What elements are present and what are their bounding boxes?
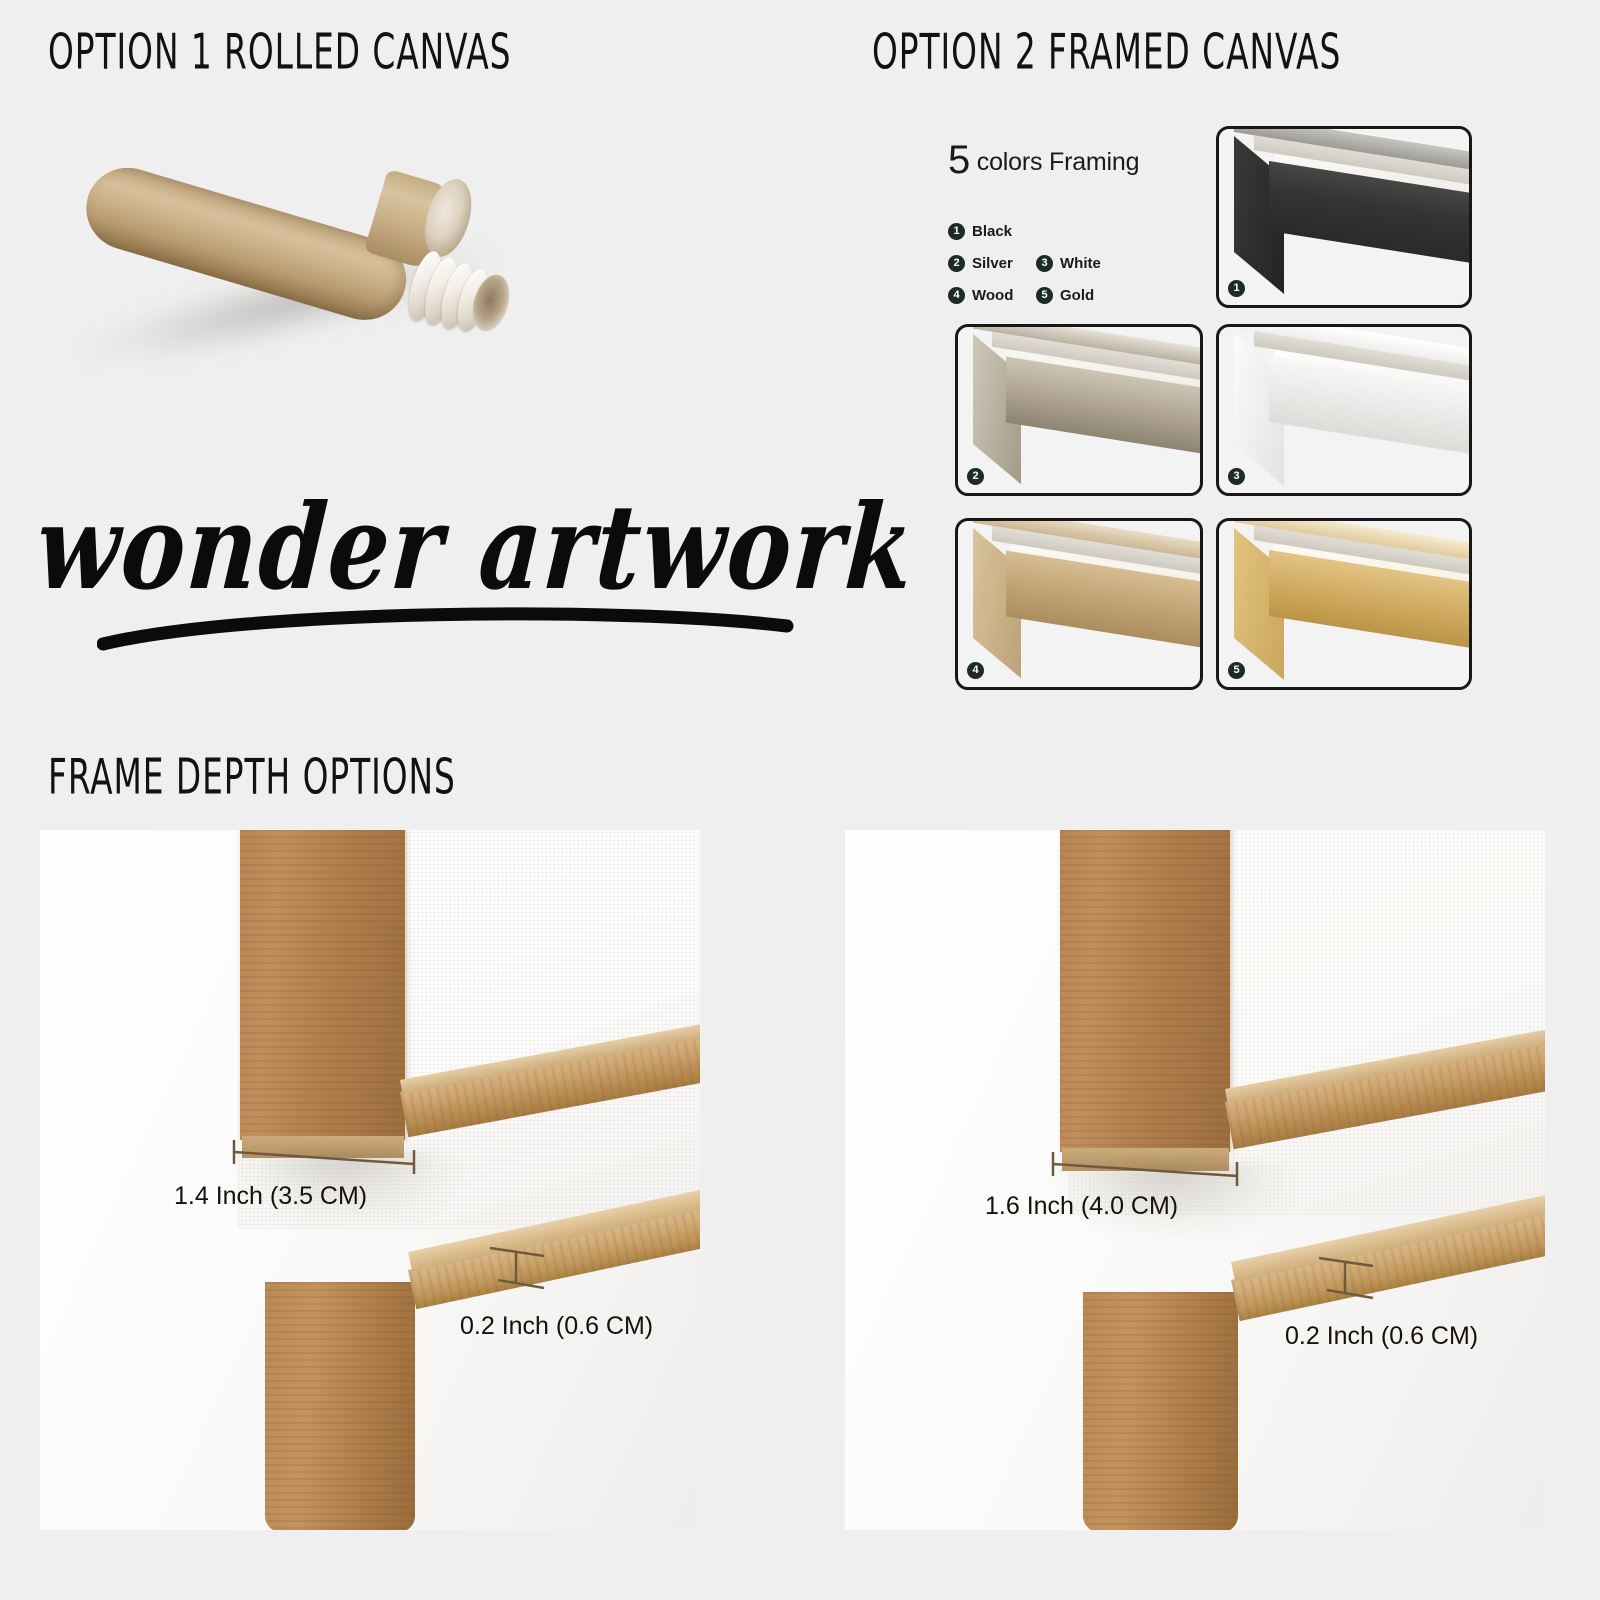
framing-title-text: colors Framing: [977, 148, 1140, 176]
frame-bottom-stile: [265, 1282, 415, 1530]
badge-number-icon: 1: [948, 223, 965, 240]
frame-width-label: 1.4 Inch (3.5 CM): [174, 1182, 367, 1211]
framing-legend-title: 5 colors Framing: [948, 138, 1218, 183]
frame-thickness-label: 0.2 Inch (0.6 CM): [1285, 1322, 1478, 1351]
framing-legend: 5 colors Framing 1 Black 2 Silver 3 Whit…: [948, 138, 1218, 319]
white-frame-sample-card[interactable]: 3: [1216, 324, 1472, 496]
frame-bottom-stile: [1083, 1292, 1238, 1530]
depth-photo-right: 1.6 Inch (4.0 CM) 0.2 Inch (0.6 CM): [845, 830, 1545, 1530]
brand-logo: wonder artwork: [42, 478, 902, 658]
frame-corner-illustration: [1219, 129, 1469, 305]
badge-number-icon: 1: [1228, 280, 1245, 297]
frame-width-dimension-line: [1045, 1142, 1260, 1186]
frame-depth-title: FRAME DEPTH OPTIONS: [48, 749, 456, 805]
frame-thickness-label: 0.2 Inch (0.6 CM): [460, 1312, 653, 1341]
frame-vertical-stile: [1060, 830, 1230, 1152]
frame-thickness-dimension-line: [486, 1238, 556, 1308]
wood-frame-sample-card[interactable]: 4: [955, 518, 1203, 690]
badge-number-icon: 2: [967, 468, 984, 485]
legend-label: Black: [972, 223, 1012, 240]
depth-photo-left: 1.4 Inch (3.5 CM) 0.2 Inch (0.6 CM): [40, 830, 700, 1530]
badge-number-icon: 3: [1036, 255, 1053, 272]
legend-label: Gold: [1060, 287, 1094, 304]
legend-row: 2 Silver 3 White: [948, 255, 1218, 272]
rolled-canvas-tube-figure: [60, 120, 520, 390]
legend-label: White: [1060, 255, 1101, 272]
badge-number-icon: 3: [1228, 468, 1245, 485]
infographic-canvas: OPTION 1 ROLLED CANVAS OPTION 2 FRAMED C…: [0, 0, 1600, 1600]
frame-width-label: 1.6 Inch (4.0 CM): [985, 1192, 1178, 1221]
badge-number-icon: 4: [967, 662, 984, 679]
legend-label: Silver: [972, 255, 1013, 272]
frame-corner-illustration: [958, 327, 1200, 493]
badge-number-icon: 5: [1228, 662, 1245, 679]
legend-row: 4 Wood 5 Gold: [948, 287, 1218, 304]
frame-corner-illustration: [1219, 521, 1469, 687]
brand-name: wonder artwork: [32, 478, 902, 616]
legend-item-black[interactable]: 1 Black: [948, 223, 1036, 240]
option1-title: OPTION 1 ROLLED CANVAS: [48, 24, 511, 80]
frame-corner-illustration: [958, 521, 1200, 687]
frame-vertical-stile: [240, 830, 405, 1140]
badge-number-icon: 5: [1036, 287, 1053, 304]
black-frame-sample-card[interactable]: 1: [1216, 126, 1472, 308]
frame-width-dimension-line: [226, 1130, 436, 1174]
gold-frame-sample-card[interactable]: 5: [1216, 518, 1472, 690]
framing-count: 5: [948, 138, 970, 182]
brand-underline-stroke: [97, 604, 797, 652]
option2-title: OPTION 2 FRAMED CANVAS: [872, 24, 1341, 80]
legend-item-silver[interactable]: 2 Silver: [948, 255, 1036, 272]
silver-frame-sample-card[interactable]: 2: [955, 324, 1203, 496]
frame-corner-illustration: [1219, 327, 1469, 493]
legend-row: 1 Black: [948, 223, 1218, 240]
legend-item-gold[interactable]: 5 Gold: [1036, 287, 1124, 304]
badge-number-icon: 2: [948, 255, 965, 272]
frame-thickness-dimension-line: [1315, 1248, 1385, 1318]
legend-label: Wood: [972, 287, 1013, 304]
legend-item-white[interactable]: 3 White: [1036, 255, 1124, 272]
framing-legend-rows: 1 Black 2 Silver 3 White 4 Wood: [948, 223, 1218, 304]
legend-item-wood[interactable]: 4 Wood: [948, 287, 1036, 304]
badge-number-icon: 4: [948, 287, 965, 304]
